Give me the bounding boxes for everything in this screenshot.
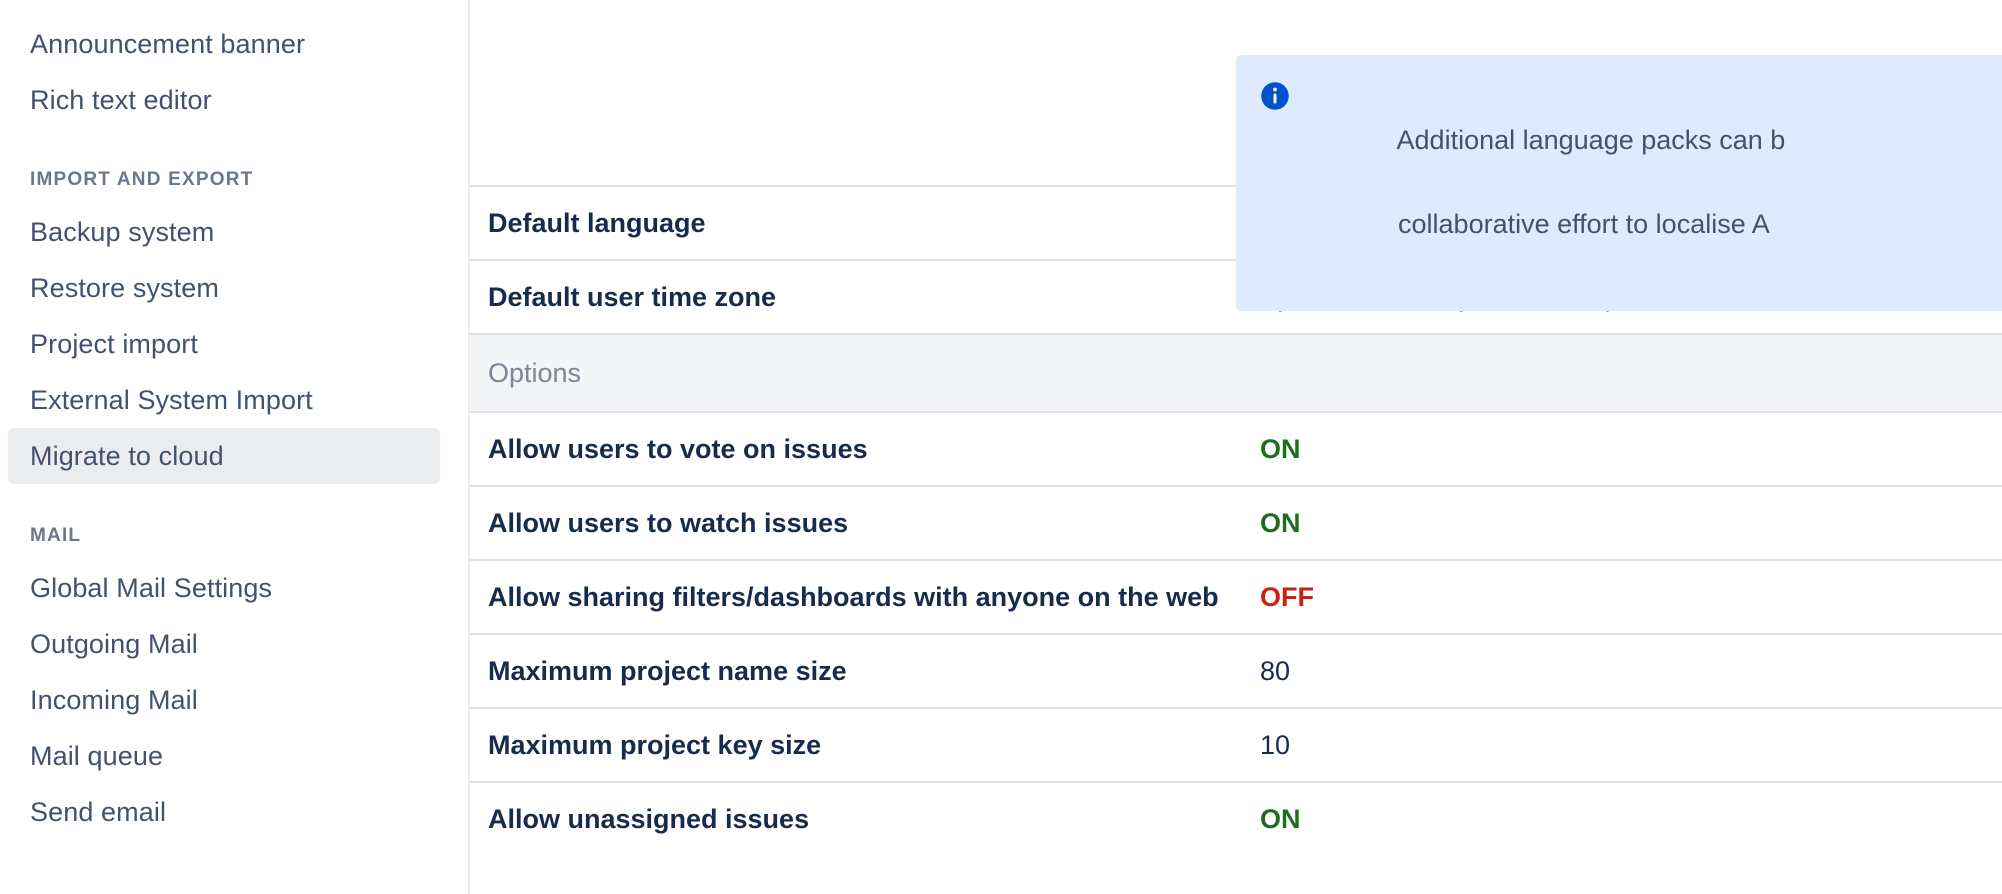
- sidebar-item-mail-queue[interactable]: Mail queue: [8, 728, 440, 784]
- setting-value: ON: [1242, 486, 2002, 560]
- settings-row: Allow users to vote on issuesON: [470, 412, 2002, 486]
- settings-row: Allow unassigned issuesON: [470, 782, 2002, 855]
- setting-label: Allow users to watch issues: [470, 486, 1242, 560]
- settings-section-label: Options: [470, 334, 2002, 412]
- sidebar-scroll-area[interactable]: Look and feelAnnouncement bannerRich tex…: [0, 0, 468, 880]
- setting-value: ON: [1242, 412, 2002, 486]
- setting-value-text: ON: [1260, 508, 1301, 538]
- setting-value-text: OFF: [1260, 582, 1314, 612]
- sidebar-item-project-import[interactable]: Project import: [8, 316, 440, 372]
- setting-label: Maximum project key size: [470, 708, 1242, 782]
- setting-value: 10: [1242, 708, 2002, 782]
- settings-row: Allow users to watch issuesON: [470, 486, 2002, 560]
- setting-value-text: ON: [1260, 804, 1301, 834]
- sidebar-section-title-mail: MAIL: [0, 484, 468, 560]
- main-content: Swedish (Sweden) Additional language pac…: [470, 0, 2002, 894]
- info-icon: [1260, 81, 1290, 111]
- sidebar-item-outgoing-mail[interactable]: Outgoing Mail: [8, 616, 440, 672]
- setting-value-text: 80: [1260, 656, 1290, 686]
- setting-label: Default language: [470, 186, 1242, 260]
- sidebar-item-global-mail-settings[interactable]: Global Mail Settings: [8, 560, 440, 616]
- info-banner: Additional language packs can b collabor…: [1236, 55, 2002, 311]
- sidebar-sections: IMPORT AND EXPORTBackup systemRestore sy…: [0, 128, 468, 840]
- setting-value-text: ON: [1260, 434, 1301, 464]
- sidebar-item-announcement-banner[interactable]: Announcement banner: [8, 16, 440, 72]
- settings-section-row: Options: [470, 334, 2002, 412]
- info-banner-line-1: Additional language packs can b: [1397, 125, 1786, 155]
- content-scroll-area: Swedish (Sweden) Additional language pac…: [470, 0, 2002, 855]
- setting-value: 80: [1242, 634, 2002, 708]
- sidebar-item-look-and-feel[interactable]: Look and feel: [8, 0, 440, 16]
- sidebar-item-incoming-mail[interactable]: Incoming Mail: [8, 672, 440, 728]
- sidebar-item-restore-system[interactable]: Restore system: [8, 260, 440, 316]
- settings-row: Maximum project name size80: [470, 634, 2002, 708]
- setting-value-text: 10: [1260, 730, 1290, 760]
- sidebar-item-migrate-to-cloud[interactable]: Migrate to cloud: [8, 428, 440, 484]
- sidebar-item-send-email[interactable]: Send email: [8, 784, 440, 840]
- setting-label: Allow users to vote on issues: [470, 412, 1242, 486]
- sidebar-top-items: Look and feelAnnouncement bannerRich tex…: [0, 0, 468, 128]
- info-banner-line-2: collaborative effort to localise A: [1398, 209, 1770, 239]
- info-banner-text: Additional language packs can b collabor…: [1308, 77, 1785, 287]
- admin-sidebar: Look and feelAnnouncement bannerRich tex…: [0, 0, 470, 894]
- setting-label: Allow sharing filters/dashboards with an…: [470, 560, 1242, 634]
- settings-row: Allow sharing filters/dashboards with an…: [470, 560, 2002, 634]
- setting-label: Allow unassigned issues: [470, 782, 1242, 855]
- admin-settings-page: Look and feelAnnouncement bannerRich tex…: [0, 0, 2002, 894]
- setting-label: Maximum project name size: [470, 634, 1242, 708]
- setting-value: ON: [1242, 782, 2002, 855]
- setting-label: Default user time zone: [470, 260, 1242, 334]
- sidebar-item-rich-text-editor[interactable]: Rich text editor: [8, 72, 440, 128]
- sidebar-item-external-system-import[interactable]: External System Import: [8, 372, 440, 428]
- sidebar-item-backup-system[interactable]: Backup system: [8, 204, 440, 260]
- sidebar-section-title-import-and-export: IMPORT AND EXPORT: [0, 128, 468, 204]
- language-top-block: Swedish (Sweden) Additional language pac…: [470, 0, 2002, 185]
- settings-row: Maximum project key size10: [470, 708, 2002, 782]
- setting-value: OFF: [1242, 560, 2002, 634]
